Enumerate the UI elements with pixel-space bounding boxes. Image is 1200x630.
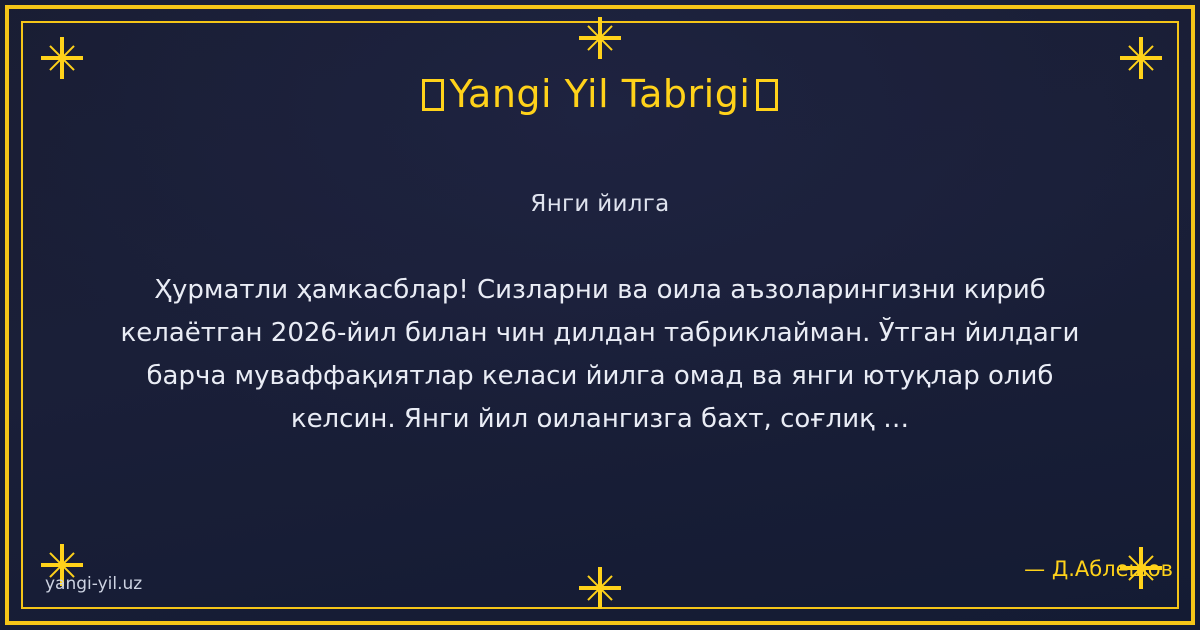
page-title: Yangi Yil Tabrigi (21, 72, 1179, 118)
site-url-label: yangi-yil.uz (45, 574, 142, 594)
card-content: Yangi Yil Tabrigi Янги йилга Ҳурматли ҳа… (21, 21, 1179, 609)
greeting-card: Yangi Yil Tabrigi Янги йилга Ҳурматли ҳа… (0, 0, 1200, 630)
greeting-body-text: Ҳурматли ҳамкасблар! Сизларни ва оила аъ… (105, 269, 1095, 441)
missing-glyph-box-icon (756, 79, 778, 111)
greeting-subtitle: Янги йилга (21, 191, 1179, 217)
author-signature: — Д.Аблешов (1024, 557, 1173, 581)
missing-glyph-box-icon (422, 79, 444, 111)
page-title-text: Yangi Yil Tabrigi (450, 72, 751, 116)
